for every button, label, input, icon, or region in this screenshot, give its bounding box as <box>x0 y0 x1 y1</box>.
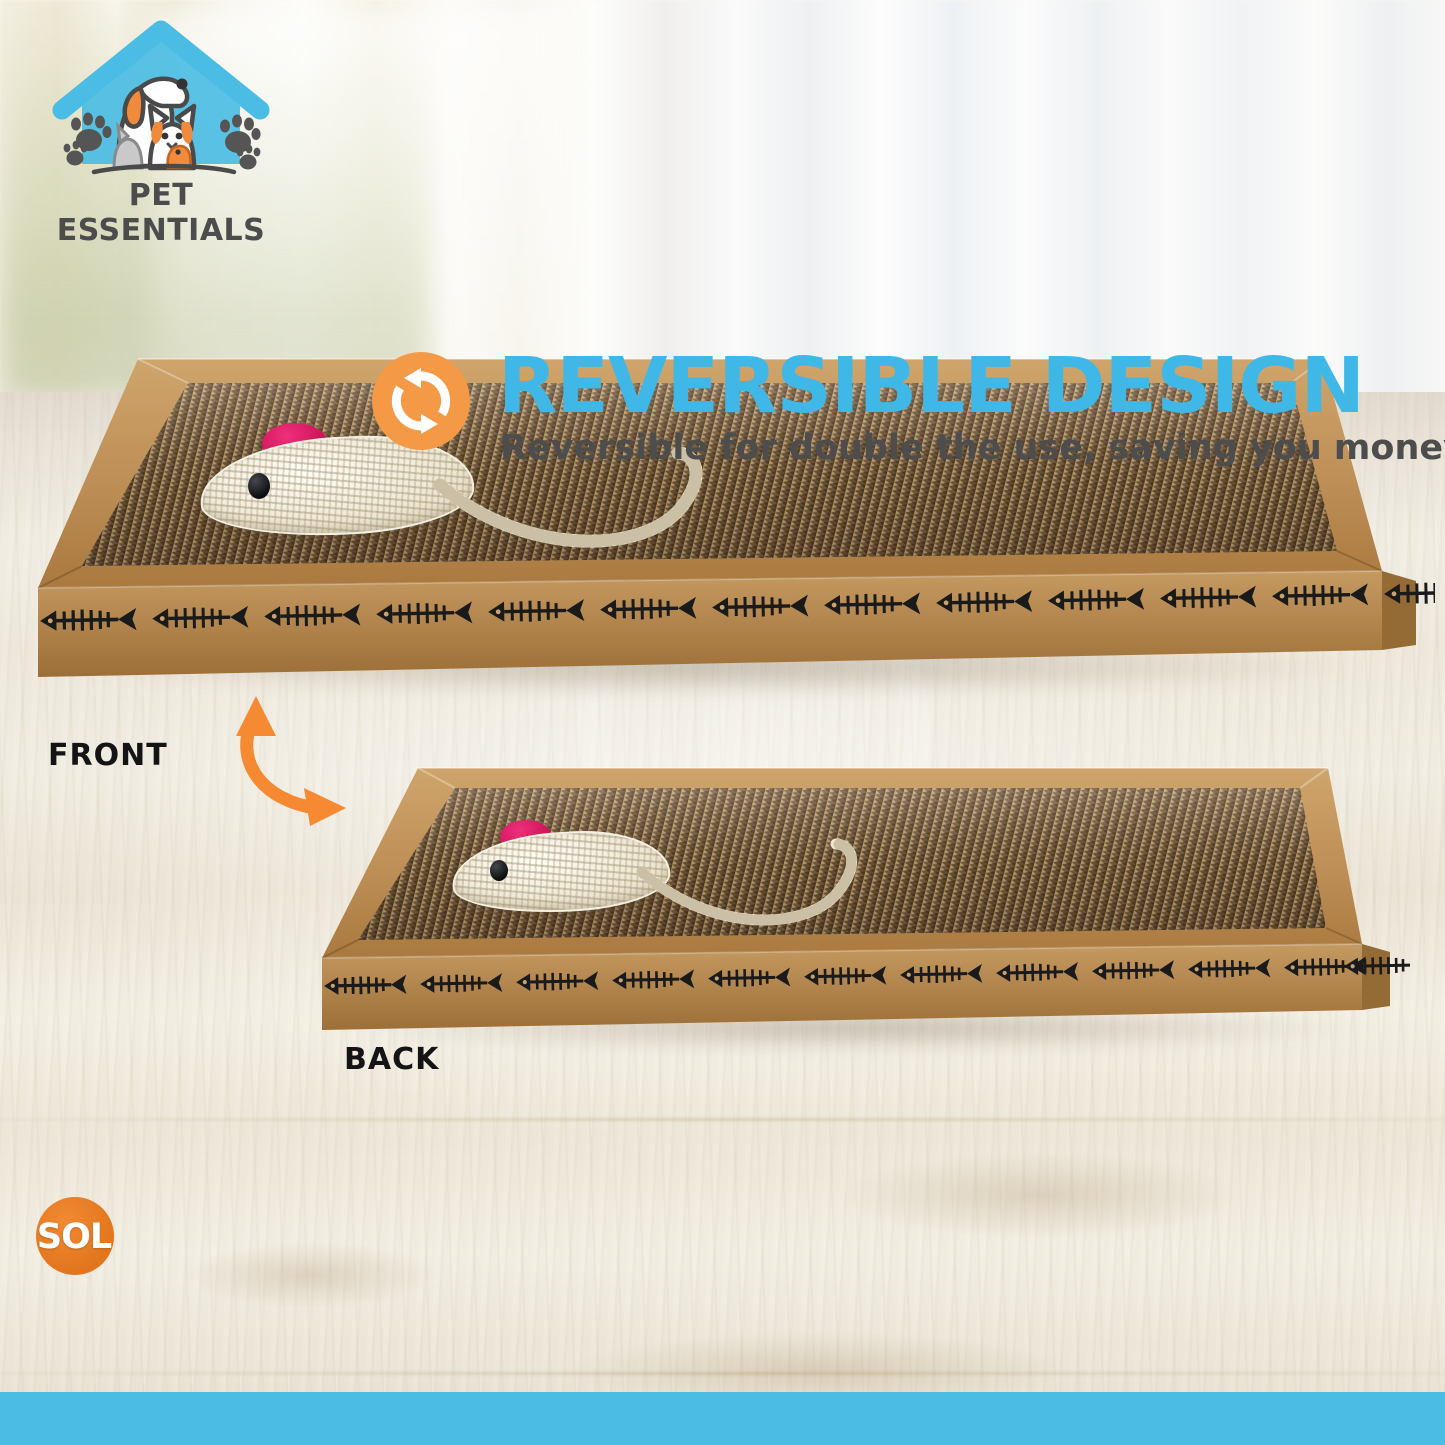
mouse-toy-back <box>452 820 872 940</box>
sol-badge-text: SOL <box>28 1217 120 1257</box>
feature-durable: DURABLE High density corrugated cardboar… <box>0 1100 1445 1250</box>
scratcher-back <box>300 758 1410 1048</box>
mouse-eye <box>490 860 508 881</box>
feature-reversible-subtitle: Reversible for double the use, saving yo… <box>500 431 1445 466</box>
plank-seam <box>0 1372 1445 1375</box>
mouse-tail <box>632 838 882 943</box>
bottom-accent-bar <box>0 1392 1445 1445</box>
mouse-eye <box>248 473 270 499</box>
front-view-label: FRONT <box>48 738 168 773</box>
refresh-cycle-icon <box>372 352 470 450</box>
flip-arrow-icon <box>210 690 390 840</box>
back-view-label: BACK <box>344 1042 439 1077</box>
feature-reversible-title: REVERSIBLE DESIGN <box>498 348 1364 425</box>
sol-badge: SOL <box>28 1193 114 1279</box>
wood-knot <box>180 1240 440 1310</box>
product-marketing-image: FRONT BACK <box>0 0 1445 1445</box>
feature-reversible: REVERSIBLE DESIGN Reversible for double … <box>0 170 1445 310</box>
